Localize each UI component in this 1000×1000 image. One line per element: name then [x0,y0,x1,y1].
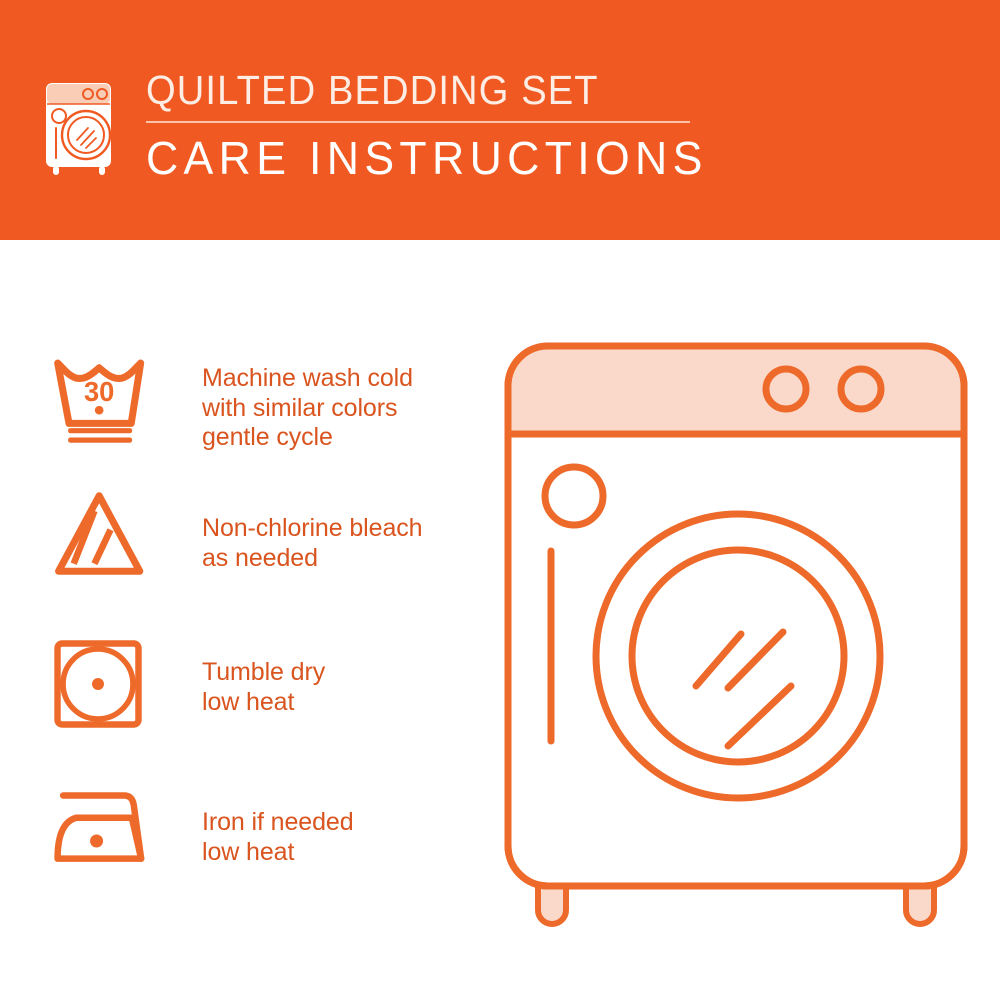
svg-text:30: 30 [84,376,114,407]
iron-icon [52,788,162,868]
page-title: CARE INSTRUCTIONS [146,132,825,184]
header-band: QUILTED BEDDING SET CARE INSTRUCTIONS [0,0,1000,240]
header-text-block: QUILTED BEDDING SET CARE INSTRUCTIONS [146,66,846,184]
wash-tub-icon: 30 [52,348,162,446]
care-instruction-row: Tumble dry low heat [52,638,462,730]
care-instruction-row: Iron if needed low heat [52,788,462,868]
washing-machine-illustration [496,336,976,936]
tumble-dry-icon [52,638,162,730]
product-title: QUILTED BEDDING SET [146,66,797,114]
care-instruction-row: Non-chlorine bleach as needed [52,488,462,579]
care-instruction-text: Tumble dry low heat [162,638,325,717]
care-instruction-text: Iron if needed low heat [162,788,354,867]
care-instruction-text: Non-chlorine bleach as needed [162,488,422,573]
care-instruction-row: 30 Machine wash cold with similar colors… [52,348,462,453]
care-instruction-text: Machine wash cold with similar colors ge… [162,348,413,453]
bleach-triangle-icon [52,488,162,579]
title-divider [146,121,690,123]
care-instruction-list: 30 Machine wash cold with similar colors… [0,240,470,1000]
washing-machine-logo-icon [44,72,122,176]
